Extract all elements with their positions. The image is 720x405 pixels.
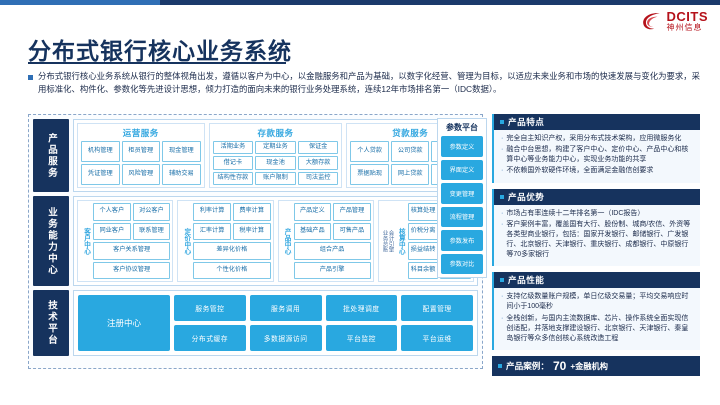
side-info-panels: 产品特点 · 完全自主知识产权，采用分布式技术架构，应用微服务化 · 融合中台思… [492,114,700,376]
center-name-label: 核算中心 [395,203,406,279]
center-customer: 客户中心 个人客户 对公客户 同业客户 联系管理 客户关系管理 [77,200,173,282]
architecture-diagram: 产品服务 运营服务 机构管理 柜员管理 现金管理 凭证管理 风险管理 [28,114,483,369]
tier-technology-platform: 技术平台 注册中心 服务管控 服务调用 批处理调度 配置管理 分布式缓存 多数据… [33,290,478,356]
tech-row: 服务管控 服务调用 批处理调度 配置管理 [174,295,473,321]
center-cell[interactable]: 基础产品 [294,223,332,241]
service-cell[interactable]: 定期业务 [255,141,296,154]
dot-icon: · [501,314,503,344]
center-name-label: 产品中心 [281,203,292,279]
service-cell[interactable]: 凭证管理 [81,164,120,185]
param-item[interactable]: 流程管理 [441,207,483,228]
center-row: 差异化价格 [193,242,270,260]
panel-product-advantages: 产品优势 · 市场占有率连续十二年排名第一（IDC报告） · 客户案例丰富，覆盖… [492,189,700,267]
service-cell[interactable]: 风险管理 [122,164,161,185]
tech-cell[interactable]: 分布式缓存 [174,325,246,351]
tier-label-business-capability: 业务能力中心 [33,196,69,286]
center-cell[interactable]: 汇率计算 [193,223,231,241]
square-bullet-icon [500,195,504,199]
panel-title: 产品优势 [508,191,544,203]
param-item[interactable]: 参数定义 [441,136,483,157]
bullet-item: · 完全自主知识产权，采用分布式技术架构，应用微服务化 [501,134,694,144]
center-row: 产品引擎 [294,262,371,280]
bullet-item: · 市场占有率连续十二年排名第一（IDC报告） [501,209,694,219]
brand-logo: DCITS 神州信息 [641,10,709,32]
param-item[interactable]: 参数发布 [441,230,483,251]
bullet-text: 全栈创新，与国内主流数据库、芯片、操作系统全面实现信创适配，并落地支撑建设银行、… [506,314,694,344]
case-label: 产品案例： [506,360,549,372]
service-row: 借记卡 现金池 大额存款 [213,156,339,169]
service-cell[interactable]: 借记卡 [213,156,254,169]
service-cell[interactable]: 公司贷款 [391,141,430,162]
dot-icon: · [501,209,503,219]
square-bullet-icon [500,278,504,282]
tech-cell[interactable]: 平台监控 [326,325,398,351]
dot-icon: · [501,220,503,261]
bullet-text: 完全自主知识产权，采用分布式技术架构，应用微服务化 [506,134,681,144]
service-cell[interactable]: 现金池 [255,156,296,169]
bullet-text: 客户案例丰富，覆盖国有大行、股份制、城商/农信、外资等各类型商业银行，包括：国家… [506,220,694,261]
bullet-item: · 客户案例丰富，覆盖国有大行、股份制、城商/农信、外资等各类型商业银行，包括：… [501,220,694,261]
service-row: 凭证管理 风险管理 辅助交易 [81,164,201,185]
tech-cell[interactable]: 多数据源访问 [250,325,322,351]
service-cell[interactable]: 活期业务 [213,141,254,154]
parameter-platform-column: 参数平台 参数定义 界面定义 变更管理 流程管理 参数发布 参数对比 [437,118,485,278]
center-cell[interactable]: 产品管理 [333,203,371,221]
tier-label-product-services: 产品服务 [33,119,69,192]
top-accent-segment [0,0,160,5]
square-bullet-icon [500,120,504,124]
bullet-text: 支持亿级数量账户规模，单日亿级交易量；平均交易响应时间小于100毫秒 [506,292,694,312]
center-row: 同业客户 联系管理 [93,223,170,241]
center-cell[interactable]: 个人客户 [93,203,131,221]
center-cell[interactable]: 对公客户 [133,203,171,221]
service-cell[interactable]: 辅助交易 [162,164,201,185]
tech-row: 分布式缓存 多数据源访问 平台监控 平台运维 [174,325,473,351]
bullet-item: · 全栈创新，与国内主流数据库、芯片、操作系统全面实现信创适配，并落地支撑建设银… [501,314,694,344]
center-row: 客户协议管理 [93,262,170,280]
service-group-operations: 运营服务 机构管理 柜员管理 现金管理 凭证管理 风险管理 辅助交易 [77,123,205,188]
center-cell[interactable]: 核算处理 [408,203,439,221]
product-case-bar: 产品案例： 70 +金融机构 [492,356,700,376]
capability-centers: 客户中心 个人客户 对公客户 同业客户 联系管理 客户关系管理 [73,196,478,286]
service-group-deposits: 存款服务 活期业务 定期业务 保证金 借记卡 现金池 大额存款 [209,123,343,188]
center-cell[interactable]: 组合产品 [294,242,371,260]
service-cell[interactable]: 现金管理 [162,141,201,162]
parameter-platform-title: 参数平台 [441,122,483,133]
square-bullet-icon [28,75,33,80]
center-row: 汇率计算 税率计算 [193,223,270,241]
business-ledger-label: 业务总账 [381,230,387,252]
service-cell[interactable]: 账户限制 [255,172,296,185]
dot-icon: · [501,292,503,312]
panel-product-performance: 产品性能 · 支持亿级数量账户规模，单日亿级交易量；平均交易响应时间小于100毫… [492,272,700,350]
title-underline [28,62,286,64]
panel-header: 产品优势 [494,189,700,205]
tech-cell[interactable]: 批处理调度 [326,295,398,321]
center-cell[interactable]: 税率计算 [233,223,271,241]
intro-text: 分布式银行核心业务系统从银行的整体视角出发，遵循以客户为中心，以金融服务和产品为… [38,70,700,96]
center-row: 个人客户 对公客户 [93,203,170,221]
panel-title: 产品特点 [508,116,544,128]
panel-header: 产品性能 [494,272,700,288]
center-row: 客户关系管理 [93,242,170,260]
dot-icon: · [501,145,503,165]
technology-platform-panel: 注册中心 服务管控 服务调用 批处理调度 配置管理 分布式缓存 多数据源访问 平… [73,290,478,356]
service-row: 活期业务 定期业务 保证金 [213,141,339,154]
center-name-label: 定价中心 [180,203,191,279]
panel-title: 产品性能 [508,274,544,286]
center-name-label: 客户中心 [80,203,91,279]
center-cell[interactable]: 价税分离 [408,223,439,241]
intro-paragraph: 分布式银行核心业务系统从银行的整体视角出发，遵循以客户为中心，以金融服务和产品为… [28,70,700,96]
center-cell[interactable]: 同业客户 [93,223,131,241]
case-suffix: +金融机构 [570,360,608,372]
registry-center-block[interactable]: 注册中心 [78,295,170,351]
service-cell[interactable]: 司法监控 [298,172,339,185]
top-accent-bar [0,0,720,5]
panel-product-features: 产品特点 · 完全自主知识产权，采用分布式技术架构，应用微服务化 · 融合中台思… [492,114,700,183]
center-cell[interactable]: 联系管理 [133,223,171,241]
bullet-text: 融合中台思想，构建了客户中心、定价中心、产品中心和核算中心等业务能力中心，实现业… [506,145,694,165]
center-row: 个性化价格 [193,262,270,280]
service-row: 结构性存款 账户限制 司法监控 [213,172,339,185]
center-row: 基础产品 可售产品 [294,223,371,241]
swoosh-logo-icon [641,10,663,32]
center-cell[interactable]: 损益结转 [408,242,439,260]
center-cell[interactable]: 可售产品 [333,223,371,241]
center-cell[interactable]: 个性化价格 [193,262,270,280]
tier-business-capability-centers: 业务能力中心 客户中心 个人客户 对公客户 同业客户 联系管理 [33,196,478,286]
tier-label-technology-platform: 技术平台 [33,290,69,356]
service-cell[interactable]: 柜员管理 [122,141,161,162]
center-cell[interactable]: 客户关系管理 [93,242,170,260]
tech-cell[interactable]: 平台运维 [401,325,473,351]
tier-product-services: 产品服务 运营服务 机构管理 柜员管理 现金管理 凭证管理 风险管理 [33,119,478,192]
service-cell[interactable]: 大额存款 [298,156,339,169]
dot-icon: · [501,134,503,144]
center-row: 产品定义 产品管理 [294,203,371,221]
center-row: 利率计算 费率计算 [193,203,270,221]
service-cell[interactable]: 保证金 [298,141,339,154]
tech-cell[interactable]: 服务调用 [250,295,322,321]
center-row: 组合产品 [294,242,371,260]
bullet-item: · 支持亿级数量账户规模，单日亿级交易量；平均交易响应时间小于100毫秒 [501,292,694,312]
center-cell[interactable]: 费率计算 [233,203,271,221]
bullet-text: 不依赖国外软硬件环境，全面满足金融信创要求 [506,166,653,176]
service-groups: 运营服务 机构管理 柜员管理 现金管理 凭证管理 风险管理 辅助交易 [73,119,478,192]
center-cell[interactable]: 客户协议管理 [93,262,170,280]
service-cell[interactable]: 票据贴现 [350,164,389,185]
param-item[interactable]: 界面定义 [441,160,483,181]
center-cell[interactable]: 科目余额 [408,262,439,280]
center-cell[interactable]: 产品定义 [294,203,332,221]
logo-text-cn: 神州信息 [667,24,709,32]
service-cell[interactable]: 网上贷款 [391,164,430,185]
center-product: 产品中心 产品定义 产品管理 基础产品 可售产品 组合产品 [278,200,374,282]
tech-cell[interactable]: 配置管理 [401,295,473,321]
service-cell[interactable]: 结构性存款 [213,172,254,185]
service-cell[interactable]: 个人贷款 [350,141,389,162]
param-item[interactable]: 参数对比 [441,254,483,275]
square-bullet-icon [498,364,502,368]
logo-text-en: DCITS [667,10,709,23]
center-pricing: 定价中心 利率计算 费率计算 汇率计算 税率计算 差异化价格 [177,200,273,282]
accounting-side-labels: 会计引擎 业务总账 [381,203,393,279]
center-cell[interactable]: 差异化价格 [193,242,270,260]
service-group-title: 存款服务 [213,127,339,139]
bullet-item: · 不依赖国外软硬件环境，全面满足金融信创要求 [501,166,694,176]
center-cell[interactable]: 产品引擎 [294,262,371,280]
panel-header: 产品特点 [494,114,700,130]
bullet-item: · 融合中台思想，构建了客户中心、定价中心、产品中心和核算中心等业务能力中心，实… [501,145,694,165]
page-title: 分布式银行核心业务系统 [28,32,292,66]
case-number: 70 [553,359,566,373]
param-item[interactable]: 变更管理 [441,183,483,204]
bullet-text: 市场占有率连续十二年排名第一（IDC报告） [506,209,644,219]
tech-cell[interactable]: 服务管控 [174,295,246,321]
service-row: 机构管理 柜员管理 现金管理 [81,141,201,162]
center-cell[interactable]: 利率计算 [193,203,231,221]
dot-icon: · [501,166,503,176]
service-cell[interactable]: 机构管理 [81,141,120,162]
service-group-title: 运营服务 [81,127,201,139]
